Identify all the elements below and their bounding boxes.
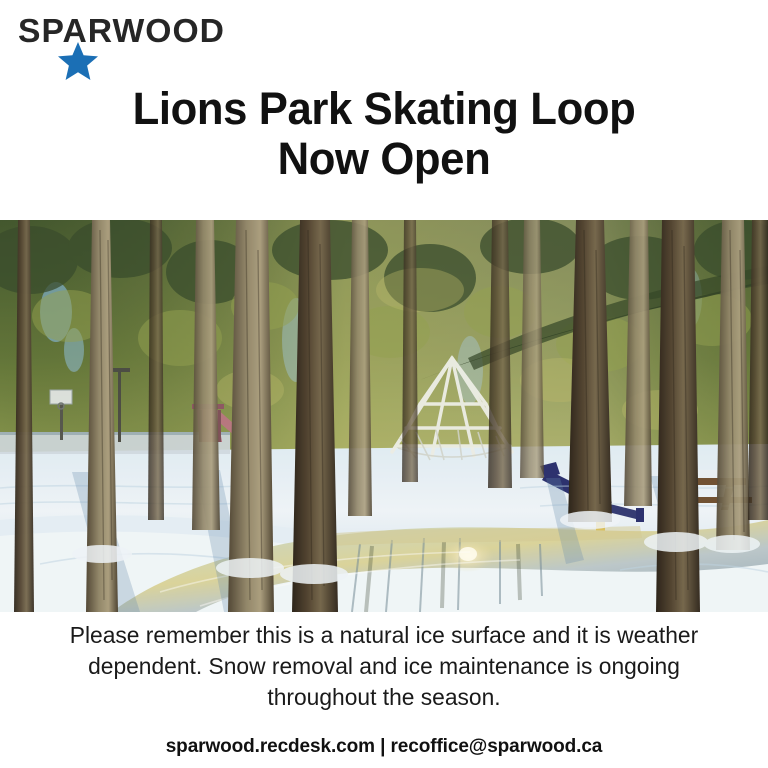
title-line-1: Lions Park Skating Loop (35, 84, 733, 134)
sparwood-wordmark: SPARWOOD (18, 14, 225, 47)
park-photo (0, 220, 768, 612)
page-title: Lions Park Skating Loop Now Open (0, 84, 768, 184)
footer-contact: sparwood.recdesk.com | recoffice@sparwoo… (0, 736, 768, 758)
park-photo-illustration (0, 220, 768, 612)
title-line-2: Now Open (35, 134, 733, 184)
sparwood-logo: SPARWOOD (18, 8, 278, 72)
body-copy: Please remember this is a natural ice su… (12, 620, 757, 713)
poster-canvas: SPARWOOD Lions Park Skating Loop Now Ope… (0, 0, 768, 768)
star-icon (58, 42, 98, 80)
